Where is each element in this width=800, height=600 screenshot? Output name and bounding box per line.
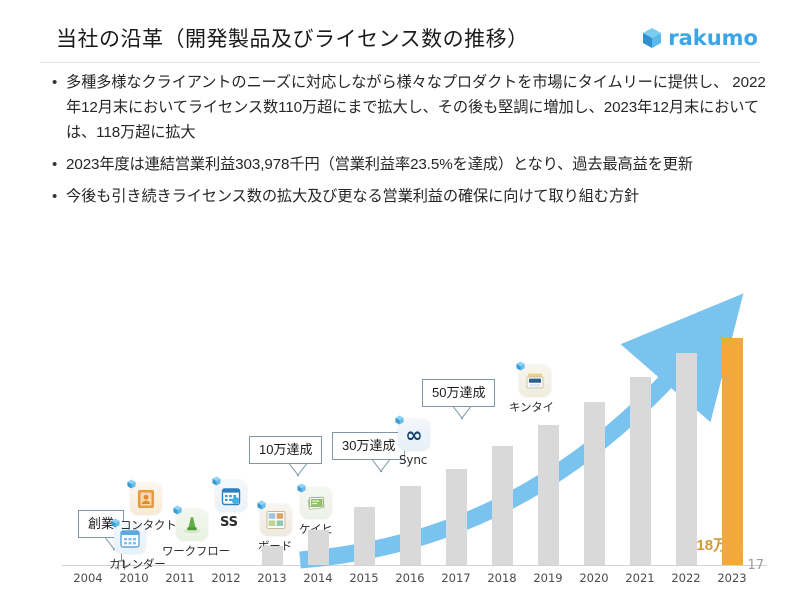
timecard-glyph — [524, 370, 546, 392]
product-label: カレンダー — [109, 556, 166, 572]
product-contact: コンタクト — [130, 483, 162, 515]
bar-2017 — [446, 469, 467, 565]
kintai-icon — [519, 365, 551, 397]
rakumo-pin-icon — [257, 500, 266, 510]
callout-tail — [287, 463, 309, 477]
bar-2022 — [676, 353, 697, 565]
callout-tail — [370, 459, 392, 473]
bar-2021 — [630, 377, 651, 565]
x-tick-2021: 2021 — [617, 571, 663, 585]
x-tick-2020: 2020 — [571, 571, 617, 585]
rakumo-pin-icon — [212, 476, 221, 486]
x-tick-2023: 2023 — [709, 571, 755, 585]
rakumo-pin-icon — [297, 483, 306, 493]
bar-2014 — [308, 530, 329, 565]
x-tick-2014: 2014 — [295, 571, 341, 585]
bullet-text: 多種多様なクライアントのニーズに対応しながら様々なプロダクトを市場にタイムリーに… — [66, 70, 770, 145]
rakumo-pin-icon — [395, 415, 404, 425]
callout-text: 10万達成 — [259, 442, 312, 457]
x-tick-2010: 2010 — [111, 571, 157, 585]
product-label: SS — [220, 515, 238, 530]
receipt-glyph — [305, 492, 327, 514]
bar-2013 — [262, 546, 283, 565]
contact-glyph — [135, 488, 157, 510]
bar-2020 — [584, 402, 605, 565]
sync-icon: ∞ — [398, 419, 430, 451]
callout-100k: 10万達成 — [249, 436, 322, 464]
x-tick-2013: 2013 — [249, 571, 295, 585]
rakumo-logo: rakumo — [642, 26, 758, 50]
product-label: ワークフロー — [162, 543, 230, 559]
stamp-glyph — [181, 514, 203, 536]
x-tick-2019: 2019 — [525, 571, 571, 585]
list-item: • 今後も引き続きライセンス数の拡大及び更なる営業利益の確保に向けて取り組む方針 — [52, 184, 770, 209]
product-ss: SS — [215, 480, 247, 512]
product-keihi: ケイヒ — [300, 487, 332, 519]
callout-text: 30万達成 — [342, 438, 395, 453]
bullet-marker: • — [52, 70, 66, 95]
bar-2019 — [538, 425, 559, 565]
x-tick-2017: 2017 — [433, 571, 479, 585]
page-title: 当社の沿革（開発製品及びライセンス数の推移） — [56, 23, 529, 53]
x-tick-2018: 2018 — [479, 571, 525, 585]
schedule-glyph — [220, 485, 242, 507]
title-divider — [40, 62, 760, 63]
bullet-text: 今後も引き続きライセンス数の拡大及び更なる営業利益の確保に向けて取り組む方針 — [66, 184, 639, 209]
ss-icon — [215, 480, 247, 512]
contact-icon — [130, 483, 162, 515]
product-label: キンタイ — [509, 399, 554, 415]
workflow-icon — [176, 509, 208, 541]
product-kintai: キンタイ — [519, 365, 551, 397]
bar-2016 — [400, 486, 421, 565]
rakumo-pin-icon — [111, 518, 120, 528]
board-glyph — [265, 509, 287, 531]
x-tick-2015: 2015 — [341, 571, 387, 585]
infinity-glyph: ∞ — [405, 425, 423, 446]
product-sync: ∞ Sync — [398, 419, 430, 451]
product-label: コンタクト — [120, 517, 177, 533]
bullet-marker: • — [52, 152, 66, 177]
x-tick-2011: 2011 — [157, 571, 203, 585]
list-item: • 2023年度は連結営業利益303,978千円（営業利益率23.5%を達成）と… — [52, 152, 770, 177]
board-icon — [260, 504, 292, 536]
callout-text: 50万達成 — [432, 385, 485, 400]
rakumo-pin-icon — [173, 505, 182, 515]
bullet-list: • 多種多様なクライアントのニーズに対応しながら様々なプロダクトを市場にタイムリ… — [52, 70, 770, 216]
bar-2015 — [354, 507, 375, 565]
page-number: 17 — [747, 558, 764, 573]
rakumo-pin-icon — [516, 361, 525, 371]
x-tick-2012: 2012 — [203, 571, 249, 585]
rakumo-logo-text: rakumo — [668, 26, 758, 50]
product-board: ボード — [260, 504, 292, 536]
callout-500k: 50万達成 — [422, 379, 495, 407]
bullet-marker: • — [52, 184, 66, 209]
x-tick-2004: 2004 — [65, 571, 111, 585]
rakumo-cube-icon — [642, 27, 662, 49]
product-label: Sync — [399, 453, 427, 467]
x-tick-2016: 2016 — [387, 571, 433, 585]
license-growth-chart: ⑃ 118万超 創業 10万達成 30万達成 50万達成 — [0, 255, 800, 585]
bar-2018 — [492, 446, 513, 565]
bar-2023 — [722, 338, 743, 565]
list-item: • 多種多様なクライアントのニーズに対応しながら様々なプロダクトを市場にタイムリ… — [52, 70, 770, 145]
rakumo-pin-icon — [127, 479, 136, 489]
bullet-text: 2023年度は連結営業利益303,978千円（営業利益率23.5%を達成）となり… — [66, 152, 693, 177]
callout-tail — [451, 406, 473, 420]
callout-300k: 30万達成 — [332, 432, 405, 460]
x-tick-2022: 2022 — [663, 571, 709, 585]
keihi-icon — [300, 487, 332, 519]
chart-x-axis — [62, 565, 767, 566]
product-workflow: ワークフロー — [176, 509, 208, 541]
